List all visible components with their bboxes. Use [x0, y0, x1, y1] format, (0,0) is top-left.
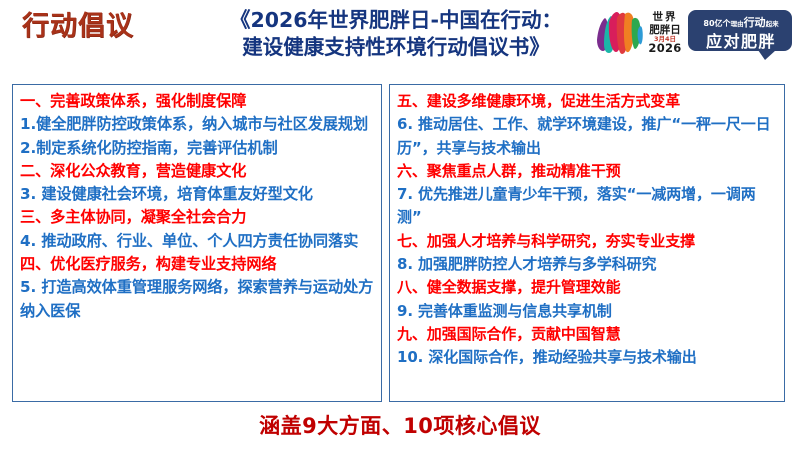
world-obesity-day-logo: 世界 肥胖日 3月4日 2026 80亿个理由行动起来 应对肥胖: [595, 6, 795, 64]
initiative-panel-right: 五、建设多维健康环境，促进生活方式变革6. 推动居住、工作、就学环境建设，推广“…: [389, 84, 785, 402]
summary-caption: 涵盖9大方面、10项核心倡议: [0, 412, 800, 440]
initiative-heading: 一、完善政策体系，强化制度保障: [20, 90, 374, 113]
initiative-heading: 八、健全数据支撑，提升管理效能: [397, 276, 777, 299]
initiative-heading: 五、建设多维健康环境，促进生活方式变革: [397, 90, 777, 113]
initiative-item: 3. 建设健康社会环境，培育体重友好型文化: [20, 183, 374, 206]
logo-slogan-small-1: 理由: [731, 20, 744, 28]
initiative-item: 10. 深化国际合作，推动经验共享与技术输出: [397, 346, 777, 369]
initiative-heading: 三、多主体协同，凝聚全社会合力: [20, 206, 374, 229]
initiative-item: 8. 加强肥胖防控人才培养与多学科研究: [397, 253, 777, 276]
initiative-heading: 六、聚焦重点人群，推动精准干预: [397, 160, 777, 183]
logo-slogan-prefix: 80亿个: [703, 19, 730, 28]
logo-speech-bubble: 80亿个理由行动起来 应对肥胖: [687, 9, 793, 52]
initiative-item: 4. 推动政府、行业、单位、个人四方责任协同落实: [20, 230, 374, 253]
logo-year: 2026: [643, 43, 687, 55]
initiative-item: 5. 打造高效体重管理服务网络，探索营养与运动处方纳入医保: [20, 276, 374, 323]
logo-wordmark: 世界 肥胖日 3月4日 2026: [643, 12, 687, 54]
initiative-heading: 二、深化公众教育，营造健康文化: [20, 160, 374, 183]
initiative-item: 7. 优先推进儿童青少年干预，落实“一减两增，一调两测”: [397, 183, 777, 230]
page-title-line-2: 建设健康支持性环境行动倡议书》: [196, 34, 596, 61]
logo-line-feipangri: 肥胖日: [643, 25, 687, 36]
initiative-heading: 七、加强人才培养与科学研究，夯实专业支撑: [397, 230, 777, 253]
page-title: 《2026年世界肥胖日-中国在行动： 建设健康支持性环境行动倡议书》: [196, 7, 596, 61]
page-title-line-1: 《2026年世界肥胖日-中国在行动：: [196, 7, 596, 34]
initiative-item: 6. 推动居住、工作、就学环境建设，推广“一秤一尺一日历”，共享与技术输出: [397, 113, 777, 160]
initiative-item: 9. 完善体重监测与信息共享机制: [397, 300, 777, 323]
initiative-heading: 四、优化医疗服务，构建专业支持网络: [20, 253, 374, 276]
initiative-item: 2.制定系统化防控指南，完善评估机制: [20, 137, 374, 160]
logo-line-shijie: 世界: [643, 12, 687, 23]
logo-slogan-main: 应对肥胖: [688, 28, 794, 52]
slide-header: 行动倡议 《2026年世界肥胖日-中国在行动： 建设健康支持性环境行动倡议书》 …: [0, 0, 800, 72]
initiative-item: 1.健全肥胖防控政策体系，纳入城市与社区发展规划: [20, 113, 374, 136]
initiative-heading: 九、加强国际合作，贡献中国智慧: [397, 323, 777, 346]
initiative-panel-left: 一、完善政策体系，强化制度保障1.健全肥胖防控政策体系，纳入城市与社区发展规划2…: [12, 84, 382, 402]
logo-slogan-small-2: 起来: [766, 20, 779, 28]
section-label: 行动倡议: [22, 10, 134, 44]
ribbon-mark-icon: [595, 10, 643, 56]
